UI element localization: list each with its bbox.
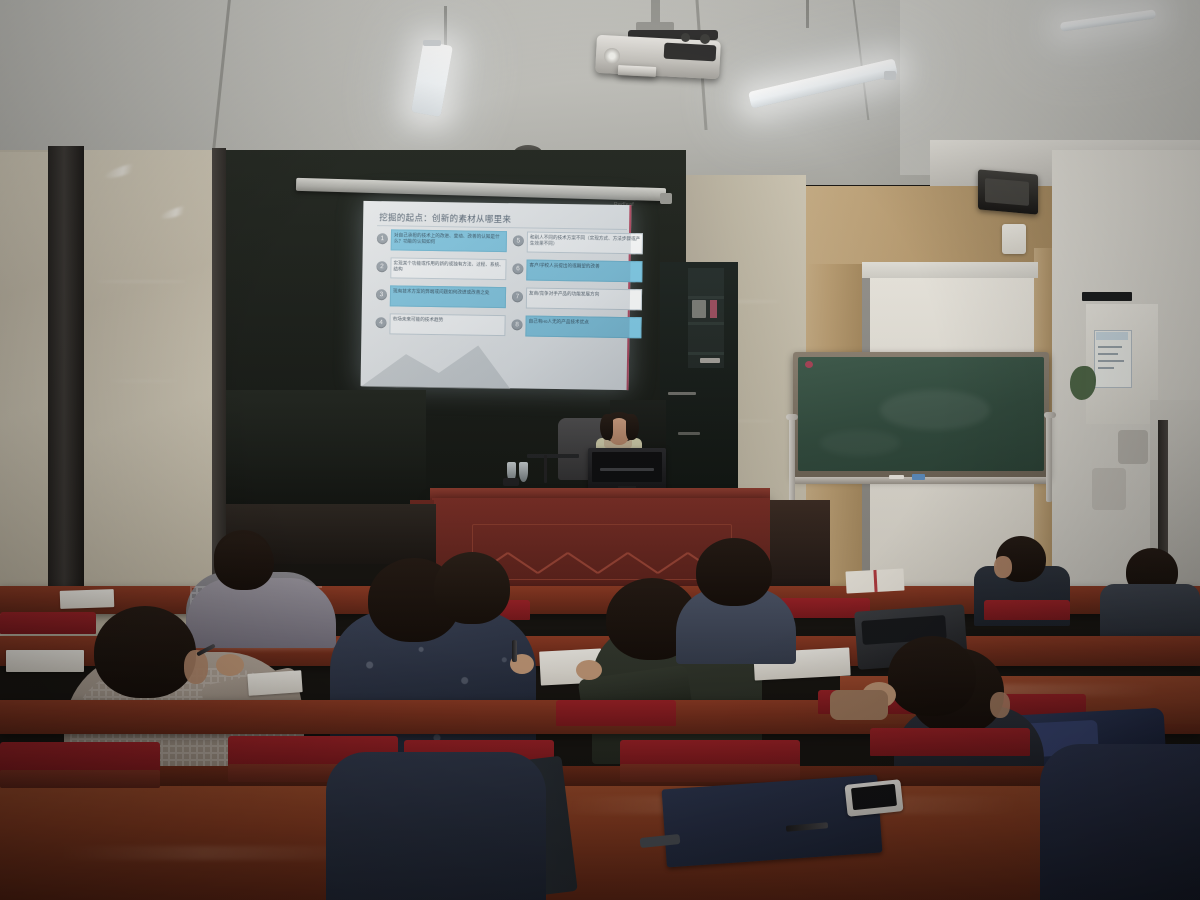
poster-line [1098, 360, 1124, 362]
seat-back [556, 700, 676, 726]
ballpoint-pen [512, 640, 517, 662]
wall-control-panel [1002, 224, 1026, 254]
light-rod [444, 6, 447, 46]
podium-panel [472, 524, 732, 580]
seat-back [984, 600, 1070, 620]
person-torso [186, 578, 336, 648]
person-arm [830, 690, 888, 720]
light-rod [806, 0, 809, 28]
slide-item: 4 市场未来可能的技术趋势 [375, 313, 505, 337]
chalkboard-stand-leg [1046, 414, 1052, 502]
projection-screen: 挖掘的起点：创新的素材从哪里来 1 对自己承担的技术上的改进、变动、改善的认知是… [361, 201, 632, 390]
seat-back [870, 728, 1030, 756]
rack-shelf [688, 322, 724, 325]
smartphone-screen [851, 784, 897, 810]
paper [6, 650, 84, 672]
person-face [990, 692, 1010, 718]
rack-shelf [688, 296, 724, 299]
chalk [889, 475, 904, 479]
microphone-base [503, 478, 519, 486]
far-chair [1118, 430, 1148, 464]
slide-item-number: 7 [512, 291, 523, 302]
seat-frame [0, 770, 160, 788]
wall-trim [48, 146, 84, 624]
slide-item: 8 自己有но人无的产品技术优点 [511, 315, 641, 339]
monitor-reflection [600, 468, 654, 471]
slide-item: 7 友商/竞争对手产品的功能发展方向 [512, 287, 642, 311]
projector-knob [681, 33, 690, 42]
person-head [434, 552, 510, 624]
person-torso [1100, 584, 1200, 642]
slide-item: 3 现有技术方案的弊端或问题如何改进或改善之处 [376, 285, 506, 309]
door-sign [1082, 292, 1132, 301]
chalkboard-smudge [880, 390, 990, 430]
drinking-glass [519, 462, 528, 482]
slide-item-number: 2 [376, 261, 387, 272]
slide-item-text: 对自己承担的技术上的改进、变动、改善的认知是什么？功能的认知如何 [394, 232, 505, 247]
presenter-hair-side [600, 414, 613, 440]
paper [247, 670, 302, 696]
slide-content: 挖掘的起点：创新的素材从哪里来 1 对自己承担的技术上的改进、变动、改善的认知是… [361, 201, 632, 390]
slide-item-number: 1 [377, 233, 388, 244]
person-hand [216, 654, 244, 676]
slide-item-number: 8 [511, 319, 522, 330]
slide-item-number: 3 [376, 289, 387, 300]
rack-equipment [710, 300, 717, 318]
marble-vein [96, 280, 186, 283]
light-cap [884, 71, 896, 80]
presenter-hair-side [626, 414, 639, 440]
rack-equipment [700, 358, 720, 363]
front-wall-dark-lower [226, 390, 426, 510]
rack-equipment [678, 432, 700, 435]
person-head [214, 534, 274, 590]
marble-panel [84, 150, 214, 628]
slide-item-number: 4 [375, 317, 386, 328]
stage-side [770, 500, 830, 590]
blackboard-eraser [912, 474, 925, 480]
rack-equipment [668, 392, 696, 395]
slide-item: 6 客户/学校人员提出的或期望的改善 [512, 259, 642, 283]
slide-right-column: 5 和别人不同的技术方案不同（实现方式、方法步骤或产生效果不同） 6 客户/学校… [511, 231, 643, 345]
screen-housing-end [660, 193, 672, 204]
door-header [862, 262, 1038, 278]
slide-item: 1 对自己承担的技术上的改进、变动、改善的认知是什么？功能的认知如何 [377, 229, 507, 253]
chalkboard-marker-dot [805, 361, 813, 368]
chalkboard-smudge [820, 430, 900, 456]
podium-monitor-screen [592, 452, 662, 482]
slide-item-number: 5 [513, 235, 524, 246]
far-chair [1092, 468, 1126, 510]
slide-item: 5 和别人不同的技术方案不同（实现方式、方法步骤或产生效果不同） [513, 231, 643, 255]
slide-left-column: 1 对自己承担的技术上的改进、变动、改善的认知是什么？功能的认知如何 2 实现某… [375, 229, 507, 343]
light-cap [423, 40, 441, 46]
projector-knob [700, 34, 710, 44]
podium-equipment [527, 454, 579, 458]
person-head [888, 636, 976, 716]
slide-item-text: 和别人不同的技术方案不同（实现方式、方法步骤或产生效果不同） [530, 235, 641, 250]
poster-line [1098, 367, 1114, 369]
marble-vein [110, 380, 180, 382]
poster-line [1098, 346, 1122, 348]
person-head [696, 538, 772, 606]
rack-shelf [688, 352, 724, 355]
poster-line [1098, 353, 1118, 355]
chalkboard-stand-knob [1044, 412, 1056, 418]
seat-back [0, 612, 96, 634]
slide-item: 2 实现某个功能或作用的新的或独有方法、过程、系统、结构 [376, 257, 506, 281]
person-hand [576, 660, 602, 680]
chalkboard-stand-knob [786, 414, 798, 420]
person-face [994, 556, 1012, 578]
marble-panel [0, 152, 52, 622]
slide-item-number: 6 [512, 263, 523, 274]
wall-speaker-grill [985, 178, 1029, 206]
slide-title: 挖掘的起点：创新的素材从哪里来 [379, 211, 511, 225]
projector-panel [664, 43, 717, 62]
person-torso [326, 752, 546, 900]
rack-equipment [692, 300, 706, 318]
projector-vent [618, 65, 656, 77]
poster-header [1096, 332, 1128, 340]
microphone-stem [544, 455, 547, 483]
slide-item-text: 实现某个功能或作用的新的或独有方法、过程、系统、结构 [393, 260, 504, 275]
seat-frame [620, 764, 800, 782]
lecture-hall-photo: Redleaf 挖掘的起点：创新的素材从哪里来 1 对自己承担的技术上的改进、变… [0, 0, 1200, 900]
person-face [184, 650, 208, 684]
chalkboard-stand-leg [789, 416, 795, 502]
person-head [94, 606, 196, 698]
paper [60, 589, 115, 609]
person-torso [1040, 744, 1200, 900]
desk-edge [0, 766, 1200, 786]
